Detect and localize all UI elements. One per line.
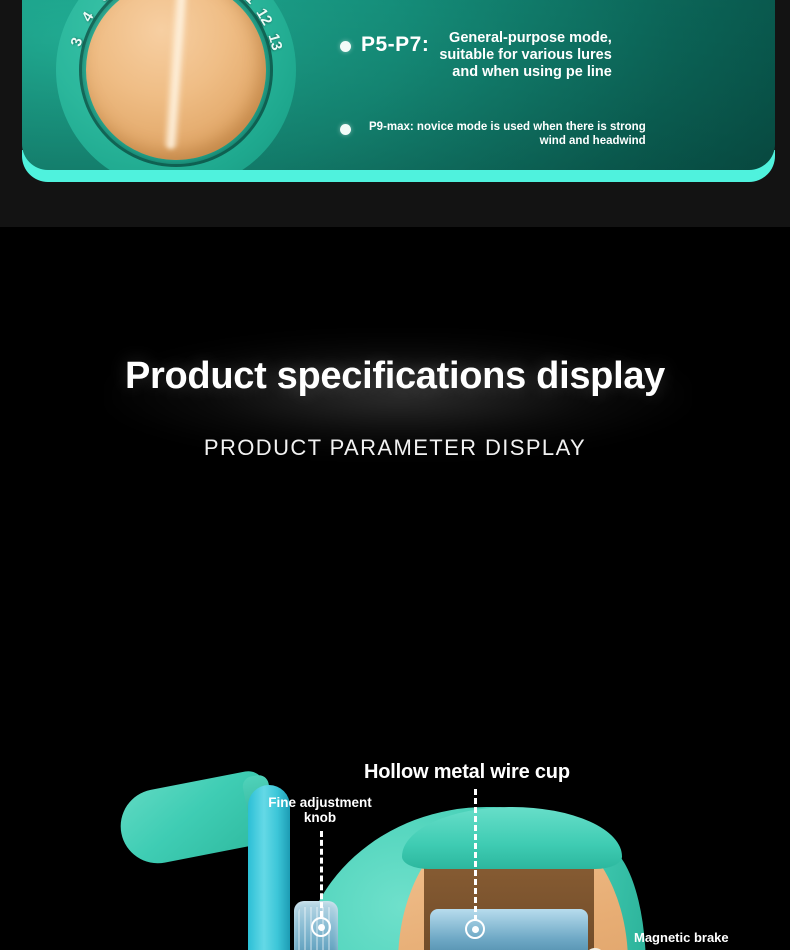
product-specifications-section: Product specifications display PRODUCT P… [0, 227, 790, 950]
bullet-dot-icon [340, 41, 351, 52]
bullet-dot-icon [340, 124, 351, 135]
page-title: Product specifications display [0, 355, 790, 398]
bullet-key-p5-p7: P5-P7: [361, 30, 429, 60]
bullet-description-p9-max: P9-max: novice mode is used when there i… [369, 120, 646, 148]
leader-line-fine-knob [320, 831, 323, 917]
callout-label-fine-knob: Fine adjustment knob [268, 795, 372, 825]
page-subtitle: PRODUCT PARAMETER DISPLAY [0, 435, 790, 461]
bullet-row-p5-p7: P5-P7: General-purpose mode, suitable fo… [340, 30, 612, 81]
fishing-reel-illustration [0, 527, 790, 950]
hollow-metal-wire-cup [430, 909, 588, 950]
brake-mode-card: 345678910111213 P5-P7: General-purpose m… [22, 0, 775, 170]
leader-line-wire-cup [474, 789, 477, 921]
callout-marker-wire-cup [465, 919, 485, 939]
callout-label-wire-cup: Hollow metal wire cup [364, 761, 570, 784]
brake-mode-section: 345678910111213 P5-P7: General-purpose m… [0, 0, 790, 227]
bullet-description-p5-p7: General-purpose mode, suitable for vario… [439, 30, 611, 81]
brake-tension-dial[interactable]: 345678910111213 [56, 0, 296, 170]
bullet-row-p9-max: P9-max: novice mode is used when there i… [340, 120, 646, 148]
dial-knob-slot [162, 0, 189, 150]
callout-label-magnetic-brake: Magnetic brake [634, 930, 729, 945]
callout-marker-fine-knob [311, 917, 331, 937]
